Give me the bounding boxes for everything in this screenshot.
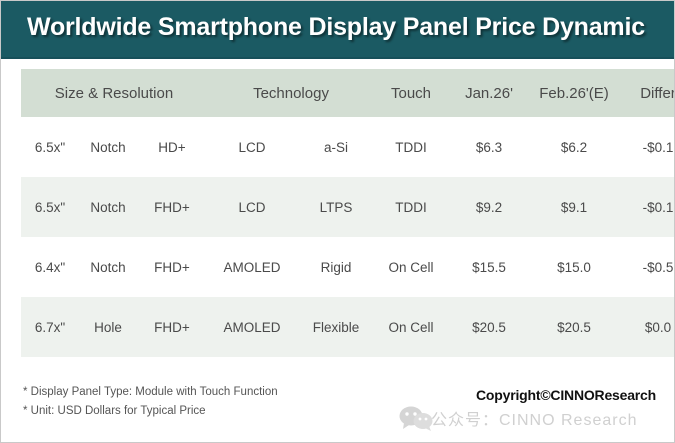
column-header-feb: Feb.26'(E) bbox=[531, 69, 617, 117]
column-header-technology: Technology bbox=[207, 69, 375, 117]
cell-shape: Notch bbox=[79, 177, 137, 237]
cell-resolution: FHD+ bbox=[137, 297, 207, 357]
cell-size: 6.5x" bbox=[21, 117, 79, 177]
cell-touch: On Cell bbox=[375, 297, 447, 357]
cell-feb-price: $9.1 bbox=[531, 177, 617, 237]
cell-backplane: LTPS bbox=[297, 177, 375, 237]
cell-jan-price: $6.3 bbox=[447, 117, 531, 177]
column-header-differ: Differ bbox=[617, 69, 675, 117]
cell-technology: LCD bbox=[207, 117, 297, 177]
table-row: 6.5x" Notch HD+ LCD a-Si TDDI $6.3 $6.2 … bbox=[21, 117, 675, 177]
column-header-touch: Touch bbox=[375, 69, 447, 117]
cell-feb-price: $15.0 bbox=[531, 237, 617, 297]
cell-differ: -$0.1 bbox=[617, 117, 675, 177]
cell-technology: AMOLED bbox=[207, 237, 297, 297]
cell-differ: $0.0 bbox=[617, 297, 675, 357]
cell-technology: AMOLED bbox=[207, 297, 297, 357]
cell-differ: -$0.5 bbox=[617, 237, 675, 297]
table-row: 6.5x" Notch FHD+ LCD LTPS TDDI $9.2 $9.1… bbox=[21, 177, 675, 237]
table-body: 6.5x" Notch HD+ LCD a-Si TDDI $6.3 $6.2 … bbox=[21, 117, 675, 357]
price-table: Size & Resolution Technology Touch Jan.2… bbox=[21, 69, 675, 357]
cell-touch: On Cell bbox=[375, 237, 447, 297]
cell-differ: -$0.1 bbox=[617, 177, 675, 237]
cell-backplane: Rigid bbox=[297, 237, 375, 297]
cell-technology: LCD bbox=[207, 177, 297, 237]
cell-resolution: FHD+ bbox=[137, 237, 207, 297]
column-header-jan: Jan.26' bbox=[447, 69, 531, 117]
column-header-size-resolution: Size & Resolution bbox=[21, 69, 207, 117]
table-header-row: Size & Resolution Technology Touch Jan.2… bbox=[21, 69, 675, 117]
wechat-icon bbox=[399, 405, 433, 431]
table-row: 6.7x" Hole FHD+ AMOLED Flexible On Cell … bbox=[21, 297, 675, 357]
cell-jan-price: $20.5 bbox=[447, 297, 531, 357]
footnote-panel-type: * Display Panel Type: Module with Touch … bbox=[23, 383, 278, 402]
cell-shape: Notch bbox=[79, 117, 137, 177]
cell-shape: Hole bbox=[79, 297, 137, 357]
cell-shape: Notch bbox=[79, 237, 137, 297]
copyright-text: Copyright©CINNOResearch bbox=[476, 387, 656, 403]
cell-touch: TDDI bbox=[375, 117, 447, 177]
watermark-text: 公众号：CINNO Research bbox=[431, 406, 637, 430]
cell-size: 6.5x" bbox=[21, 177, 79, 237]
cell-backplane: a-Si bbox=[297, 117, 375, 177]
price-table-container: Size & Resolution Technology Touch Jan.2… bbox=[21, 69, 659, 357]
cell-size: 6.4x" bbox=[21, 237, 79, 297]
cell-touch: TDDI bbox=[375, 177, 447, 237]
table-row: 6.4x" Notch FHD+ AMOLED Rigid On Cell $1… bbox=[21, 237, 675, 297]
table-header: Size & Resolution Technology Touch Jan.2… bbox=[21, 69, 675, 117]
cell-feb-price: $20.5 bbox=[531, 297, 617, 357]
cell-jan-price: $15.5 bbox=[447, 237, 531, 297]
cell-resolution: FHD+ bbox=[137, 177, 207, 237]
cell-resolution: HD+ bbox=[137, 117, 207, 177]
page-title: Worldwide Smartphone Display Panel Price… bbox=[27, 13, 645, 42]
title-bar: Worldwide Smartphone Display Panel Price… bbox=[1, 1, 675, 59]
footnotes: * Display Panel Type: Module with Touch … bbox=[23, 383, 278, 421]
footnote-unit: * Unit: USD Dollars for Typical Price bbox=[23, 402, 278, 421]
cell-size: 6.7x" bbox=[21, 297, 79, 357]
cell-jan-price: $9.2 bbox=[447, 177, 531, 237]
cell-feb-price: $6.2 bbox=[531, 117, 617, 177]
cell-backplane: Flexible bbox=[297, 297, 375, 357]
figure-root: Worldwide Smartphone Display Panel Price… bbox=[0, 0, 675, 443]
